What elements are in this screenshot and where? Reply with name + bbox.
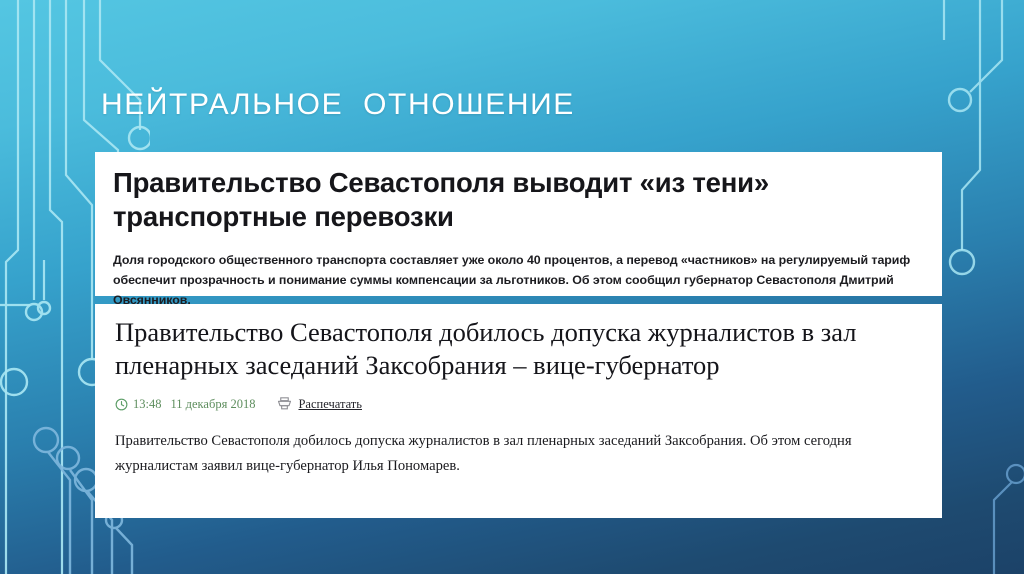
- article-body-transport: Доля городского общественного транспорта…: [113, 250, 924, 310]
- article-body-press: Правительство Севастополя добилось допус…: [115, 429, 924, 479]
- article-date: 11 декабря 2018: [170, 397, 255, 412]
- article-time: 13:48: [133, 397, 161, 412]
- article-card-transport: Правительство Севастополя выводит «из те…: [95, 152, 942, 296]
- article-meta-row: 13:48 11 декабря 2018 Распечатать: [115, 397, 924, 412]
- article-card-press: Правительство Севастополя добилось допус…: [95, 304, 942, 518]
- presentation-slide: НЕЙТРАЛЬНОЕ ОТНОШЕНИЕ Правительство Сева…: [0, 0, 1024, 574]
- slide-title: НЕЙТРАЛЬНОЕ ОТНОШЕНИЕ: [101, 88, 575, 122]
- article-headline-transport: Правительство Севастополя выводит «из те…: [113, 166, 924, 233]
- article-body-wrapper: Правительство Севастополя добилось допус…: [115, 429, 924, 479]
- printer-icon[interactable]: [277, 397, 292, 411]
- article-headline-press: Правительство Севастополя добилось допус…: [115, 316, 924, 383]
- clock-icon: [115, 398, 128, 411]
- print-link[interactable]: Распечатать: [298, 397, 362, 412]
